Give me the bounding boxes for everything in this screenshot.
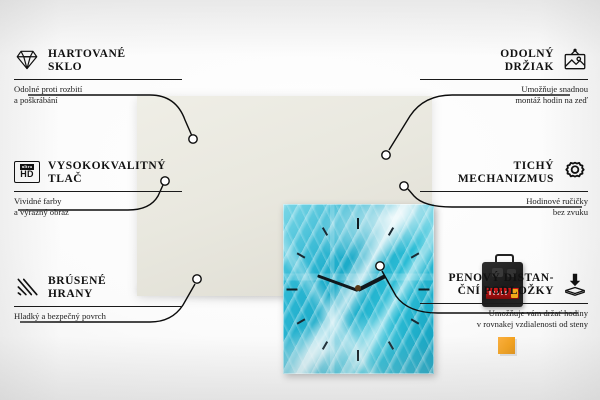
ultra-hd-icon-hd-text: HD xyxy=(20,170,33,180)
feature-divider-edges xyxy=(14,306,182,307)
ultra-hd-icon: ultra HD xyxy=(14,161,40,183)
feature-divider-mechanism xyxy=(420,191,588,192)
feature-callout-edges: BRÚSENÉ HRANY Hladký a bezpečný povrch xyxy=(14,275,182,322)
feature-title-mechanism: TICHÝ MECHANIZMUS xyxy=(420,160,554,186)
feature-title-holder: ODOLNÝ DRŽIAK xyxy=(420,48,554,74)
feature-head-mechanism: TICHÝ MECHANIZMUS xyxy=(420,160,588,186)
feature-title-edges: BRÚSENÉ HRANY xyxy=(48,275,182,301)
feature-divider-print xyxy=(14,191,182,192)
feature-callout-print: ultra HD VYSOKOKVALITNÝ TLAČ Vividné far… xyxy=(14,160,182,219)
gear-icon xyxy=(562,159,588,185)
feature-divider-foam xyxy=(420,303,588,304)
feature-description-mechanism: Hodinové ručičky bez zvuku xyxy=(420,196,588,219)
feature-title-foam: PENOVÝ DISTAN- ČNÍ PODLOŽKY xyxy=(420,272,554,298)
wall-hanger-icon xyxy=(562,47,588,73)
feature-description-glass: Odolné proti rozbití a poškrábání xyxy=(14,84,182,107)
feature-callout-foam: PENOVÝ DISTAN- ČNÍ PODLOŽKY Umožňuje vám… xyxy=(420,272,588,331)
feature-description-holder: Umožňuje snadnou montáž hodin na zeď xyxy=(420,84,588,107)
feature-head-holder: ODOLNÝ DRŽIAK xyxy=(420,48,588,74)
feature-head-foam: PENOVÝ DISTAN- ČNÍ PODLOŽKY xyxy=(420,272,588,298)
feature-callout-glass: HARTOVANÉ SKLO Odolné proti rozbití a po… xyxy=(14,48,182,107)
clock-glass-edge xyxy=(283,204,434,374)
foam-spacer-pad xyxy=(498,337,515,354)
foam-pad-icon xyxy=(562,271,588,297)
feature-description-print: Vividné farby a výrazný obraz xyxy=(14,196,182,219)
feature-head-print: ultra HD VYSOKOKVALITNÝ TLAČ xyxy=(14,160,182,186)
feature-divider-glass xyxy=(14,79,182,80)
wall-clock xyxy=(283,204,434,374)
feature-title-print: VYSOKOKVALITNÝ TLAČ xyxy=(48,160,182,186)
polished-edges-icon xyxy=(14,274,40,300)
feature-head-edges: BRÚSENÉ HRANY xyxy=(14,275,182,301)
feature-callout-mechanism: TICHÝ MECHANIZMUS Hodinové ručičky bez z… xyxy=(420,160,588,219)
feature-description-foam: Umožňuje vám držať hodiny v rovnakej vzd… xyxy=(420,308,588,331)
feature-divider-holder xyxy=(420,79,588,80)
infographic-stage: HARTOVANÉ SKLO Odolné proti rozbití a po… xyxy=(0,0,600,400)
feature-description-edges: Hladký a bezpečný povrch xyxy=(14,311,182,322)
diamond-icon xyxy=(14,47,40,73)
feature-title-glass: HARTOVANÉ SKLO xyxy=(48,48,182,74)
feature-callout-holder: ODOLNÝ DRŽIAK Umožňuje snadnou montáž ho… xyxy=(420,48,588,107)
feature-head-glass: HARTOVANÉ SKLO xyxy=(14,48,182,74)
